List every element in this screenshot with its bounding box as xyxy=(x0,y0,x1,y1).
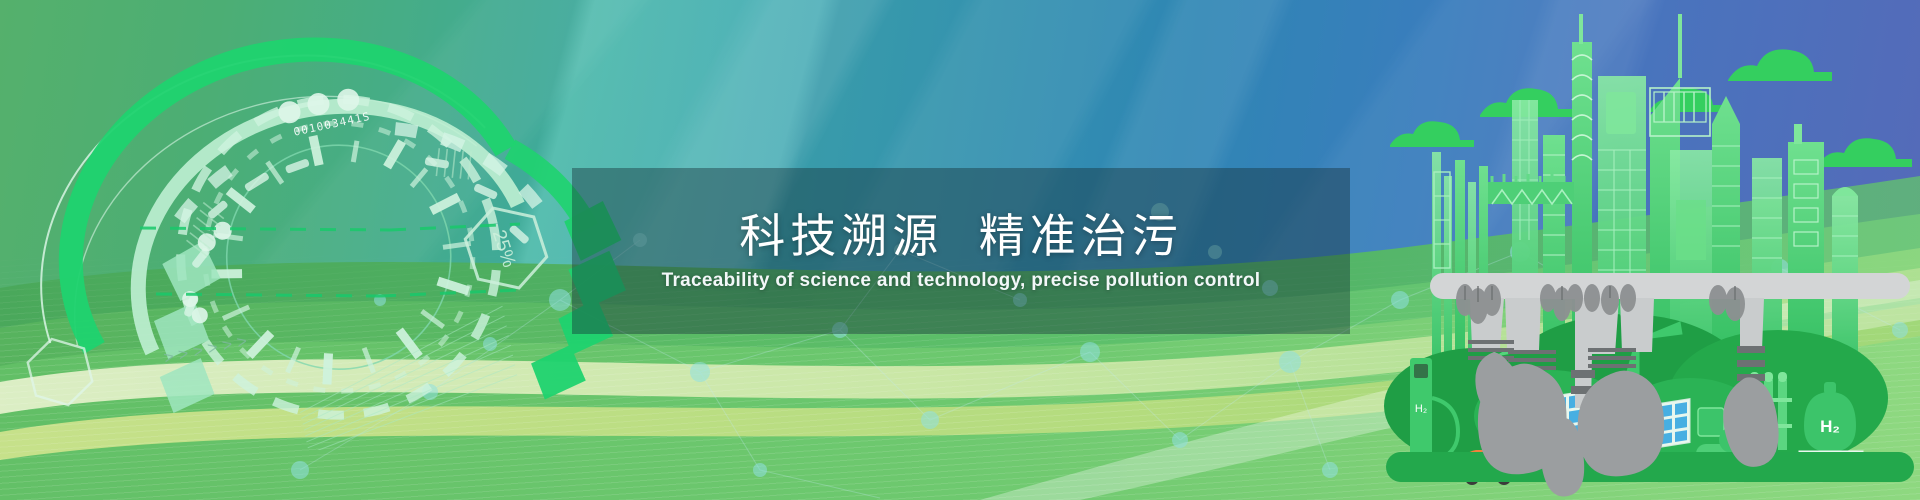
cloud-shapes xyxy=(1390,49,1912,167)
solar-panel xyxy=(1528,388,1604,474)
hydrogen-tank-label: H₂ xyxy=(1820,417,1840,436)
percent-badge-label: 25% xyxy=(488,227,520,270)
solar-panel xyxy=(1618,399,1690,478)
hud-arrow-marks: >>>>>> xyxy=(162,330,254,367)
wind-turbine xyxy=(1476,314,1528,412)
smoke-blob xyxy=(1475,352,1778,496)
banner-subtitle: Traceability of science and technology, … xyxy=(662,270,1261,292)
small-hexagon-badge xyxy=(24,332,97,412)
banner-headline: 科技溯源 精准治污 xyxy=(739,210,1183,263)
green-hills xyxy=(1384,314,1888,470)
stack-stripes xyxy=(1468,340,1765,394)
wind-turbine xyxy=(1608,288,1682,416)
text-overlay-panel: 科技溯源 精准治污 Traceability of science and te… xyxy=(572,168,1350,334)
skyline-buildings xyxy=(1432,14,1858,366)
charger-h2-label: H₂ xyxy=(1415,403,1427,415)
hero-banner: 001003441S xyxy=(0,0,1920,500)
platform-slab xyxy=(1386,452,1914,482)
ev-charging-station: H₂ xyxy=(1404,358,1458,480)
hanging-leaf xyxy=(1456,284,1745,324)
orange-car xyxy=(1456,450,1518,485)
hud-ring-code: 001003441S xyxy=(292,110,371,139)
percent-hexagon-badge: 25% xyxy=(459,197,553,299)
hydrogen-plant: H₂ H₂ xyxy=(1692,372,1862,474)
plant-h2-label: H₂ xyxy=(1702,454,1712,464)
stack-leg xyxy=(1470,298,1764,408)
